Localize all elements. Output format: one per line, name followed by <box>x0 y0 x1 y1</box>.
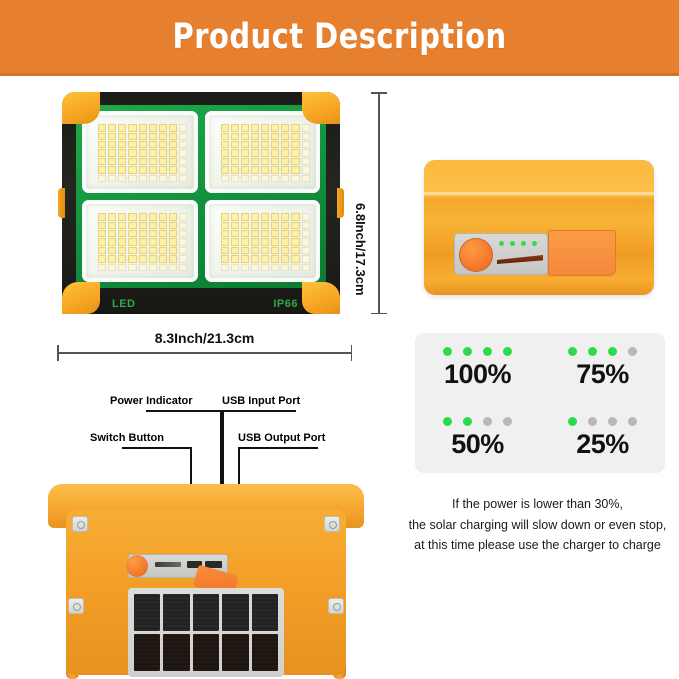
control-plate <box>454 233 548 275</box>
led-chip <box>231 238 239 245</box>
led-chip <box>281 166 289 173</box>
led-chip <box>169 247 177 254</box>
led-chip <box>128 264 136 271</box>
led-chip <box>231 247 239 254</box>
led-chip <box>169 166 177 173</box>
led-chip <box>118 238 126 245</box>
led-chip <box>128 238 136 245</box>
led-chip <box>169 230 177 237</box>
led-chip <box>108 238 116 245</box>
led-chip <box>118 166 126 173</box>
page-header-banner: Product Description <box>0 0 679 76</box>
led-chip <box>221 175 229 182</box>
led-chip <box>139 247 147 254</box>
led-chip <box>179 133 187 140</box>
led-chip <box>221 238 229 245</box>
height-dimension-line <box>378 92 380 314</box>
led-chip <box>139 230 147 237</box>
led-chip <box>291 230 299 237</box>
led-chip <box>302 213 310 220</box>
led-chip <box>261 175 269 182</box>
led-chip <box>231 141 239 148</box>
led-chip <box>261 238 269 245</box>
led-chip <box>179 255 187 262</box>
solar-cell <box>193 594 219 631</box>
solar-cell <box>163 594 189 631</box>
battery-level-item: 100% <box>415 333 540 403</box>
led-chip <box>179 149 187 156</box>
led-chip <box>128 133 136 140</box>
battery-level-item: 50% <box>415 403 540 473</box>
battery-level-item: 25% <box>540 403 665 473</box>
led-chip <box>108 124 116 131</box>
led-chip <box>281 222 289 229</box>
led-chip <box>251 124 259 131</box>
led-chip <box>241 166 249 173</box>
floodlight-side-mount-left <box>58 188 65 218</box>
led-chip <box>108 133 116 140</box>
led-chip <box>128 141 136 148</box>
led-chip <box>281 247 289 254</box>
led-chip <box>251 141 259 148</box>
led-chip <box>128 149 136 156</box>
led-chip <box>159 230 167 237</box>
battery-dot-off <box>483 417 492 426</box>
width-dimension-label: 8.3Inch/21.3cm <box>57 330 352 346</box>
callout-usb-input-port: USB Input Port <box>222 395 300 407</box>
dimension-cap-bottom <box>371 313 387 315</box>
led-chip <box>251 175 259 182</box>
solar-cell <box>134 634 160 671</box>
led-chip <box>221 149 229 156</box>
led-chip <box>241 247 249 254</box>
led-chip <box>291 149 299 156</box>
led-chip <box>108 149 116 156</box>
led-chip <box>271 222 279 229</box>
callout-underline-switch-button <box>122 447 192 449</box>
led-chip <box>271 133 279 140</box>
battery-dot <box>483 347 492 356</box>
led-chip <box>281 238 289 245</box>
led-chip <box>271 247 279 254</box>
page-title: Product Description <box>172 17 506 57</box>
led-panel <box>205 111 321 193</box>
solar-cell <box>222 634 248 671</box>
led-chip <box>128 247 136 254</box>
solar-cell <box>163 634 189 671</box>
corner-bumper-top-right <box>302 92 340 124</box>
ip-rating-label: IP66 <box>273 298 298 310</box>
led-chip <box>291 238 299 245</box>
led-chip <box>179 230 187 237</box>
led-chip <box>291 247 299 254</box>
led-chip <box>179 124 187 131</box>
led-chip <box>302 238 310 245</box>
led-chip <box>291 158 299 165</box>
led-chip <box>241 264 249 271</box>
led-chip <box>159 264 167 271</box>
led-chip <box>221 166 229 173</box>
led-chip <box>261 264 269 271</box>
dimension-cap-right <box>351 345 353 361</box>
indicator-led <box>499 241 504 246</box>
led-chip <box>118 255 126 262</box>
led-chip <box>149 149 157 156</box>
led-chip <box>291 255 299 262</box>
led-panel <box>205 200 321 282</box>
led-chip <box>179 166 187 173</box>
led-chip <box>169 158 177 165</box>
solar-cell <box>252 594 278 631</box>
battery-dots-75 <box>568 347 637 356</box>
led-chip <box>281 149 289 156</box>
led-chip <box>231 166 239 173</box>
solar-cell <box>193 634 219 671</box>
led-chip <box>251 133 259 140</box>
led-chip <box>98 230 106 237</box>
led-chip <box>251 255 259 262</box>
led-chip <box>118 149 126 156</box>
battery-dot <box>463 347 472 356</box>
led-chip <box>271 158 279 165</box>
led-chip <box>302 175 310 182</box>
led-chip <box>98 166 106 173</box>
led-chip <box>98 175 106 182</box>
led-chip <box>221 255 229 262</box>
led-chip <box>302 133 310 140</box>
led-chip <box>251 158 259 165</box>
led-chip <box>149 247 157 254</box>
led-chip <box>139 222 147 229</box>
led-chip <box>231 230 239 237</box>
battery-dot <box>443 347 452 356</box>
led-chip <box>231 158 239 165</box>
led-chip <box>139 166 147 173</box>
led-chip <box>149 124 157 131</box>
led-chip <box>139 238 147 245</box>
solar-cell <box>252 634 278 671</box>
housing-seam <box>424 192 654 195</box>
led-chip <box>251 247 259 254</box>
led-chip <box>221 230 229 237</box>
led-chip <box>118 158 126 165</box>
led-chip <box>118 213 126 220</box>
led-chip <box>221 213 229 220</box>
led-chip <box>169 255 177 262</box>
led-chip <box>108 230 116 237</box>
led-chip <box>108 166 116 173</box>
battery-dot <box>588 347 597 356</box>
led-chip <box>128 158 136 165</box>
height-dimension-label: 6.8Inch/17.3cm <box>353 203 368 296</box>
led-chip <box>271 255 279 262</box>
notice-line-2: the solar charging will slow down or eve… <box>400 515 675 536</box>
callout-usb-output-port: USB Output Port <box>238 432 325 444</box>
led-chip <box>159 141 167 148</box>
led-chip <box>169 133 177 140</box>
led-chip <box>291 222 299 229</box>
led-chip <box>169 124 177 131</box>
led-chip <box>291 166 299 173</box>
battery-dot-off <box>608 417 617 426</box>
callout-power-indicator: Power Indicator <box>110 395 193 407</box>
product-back-view-image <box>22 480 390 679</box>
solar-cell <box>134 594 160 631</box>
led-chip-grid <box>98 213 187 271</box>
led-chip <box>128 213 136 220</box>
solar-cell <box>222 594 248 631</box>
led-chip <box>221 158 229 165</box>
led-chip <box>281 264 289 271</box>
led-chip <box>291 124 299 131</box>
led-chip <box>302 222 310 229</box>
led-chip <box>271 175 279 182</box>
width-dimension-line <box>57 352 352 354</box>
led-chip <box>179 175 187 182</box>
dimension-cap-left <box>57 345 59 361</box>
led-chip <box>128 124 136 131</box>
led-chip <box>139 255 147 262</box>
led-chip <box>159 158 167 165</box>
led-chip <box>159 238 167 245</box>
led-chip <box>139 264 147 271</box>
screw-icon <box>68 598 84 614</box>
led-chip <box>302 255 310 262</box>
battery-dot-off <box>628 347 637 356</box>
indicator-led-row <box>499 241 537 246</box>
solar-panel <box>128 588 284 677</box>
led-chip <box>149 238 157 245</box>
led-chip <box>241 158 249 165</box>
led-chip <box>261 222 269 229</box>
led-chip <box>98 255 106 262</box>
led-chip <box>281 133 289 140</box>
led-chip <box>221 124 229 131</box>
floodlight-green-frame <box>76 105 326 288</box>
indicator-led <box>532 241 537 246</box>
led-chip <box>108 255 116 262</box>
led-chip-grid <box>98 124 187 182</box>
led-chip <box>98 238 106 245</box>
led-chip <box>149 141 157 148</box>
led-chip <box>139 158 147 165</box>
led-chip <box>179 213 187 220</box>
battery-dots-25 <box>568 417 637 426</box>
led-chip <box>98 133 106 140</box>
screw-icon <box>328 598 344 614</box>
led-chip <box>179 222 187 229</box>
battery-level-panel: 100% 75% 50% <box>415 333 665 473</box>
led-chip <box>169 222 177 229</box>
led-chip <box>281 141 289 148</box>
screw-icon <box>324 516 340 532</box>
led-chip <box>118 133 126 140</box>
led-chip <box>261 124 269 131</box>
battery-dot <box>463 417 472 426</box>
callout-underline-usb-output-port <box>238 447 318 449</box>
led-chip <box>251 238 259 245</box>
led-chip <box>221 247 229 254</box>
battery-percent-label: 50% <box>451 429 504 460</box>
led-chip <box>261 141 269 148</box>
led-chip <box>231 133 239 140</box>
led-chip <box>281 175 289 182</box>
battery-dot <box>568 417 577 426</box>
battery-dots-100 <box>443 347 512 356</box>
led-chip <box>169 238 177 245</box>
led-chip-grid <box>221 124 310 182</box>
corner-bumper-bottom-left <box>62 282 100 314</box>
led-chip <box>251 149 259 156</box>
led-chip <box>281 255 289 262</box>
led-chip-grid <box>221 213 310 271</box>
led-chip <box>98 247 106 254</box>
led-chip <box>231 149 239 156</box>
led-chip <box>118 141 126 148</box>
led-chip <box>241 213 249 220</box>
led-chip <box>108 141 116 148</box>
led-chip <box>149 133 157 140</box>
port-rubber-cover <box>548 230 616 276</box>
floodlight-side-mount-right <box>337 188 344 218</box>
led-chip <box>221 264 229 271</box>
back-panel-closeup-image <box>424 160 654 295</box>
led-chip <box>291 213 299 220</box>
led-chip <box>281 230 289 237</box>
battery-percent-label: 100% <box>444 359 511 390</box>
led-chip <box>118 124 126 131</box>
led-chip <box>221 133 229 140</box>
led-chip <box>169 175 177 182</box>
led-chip <box>128 222 136 229</box>
led-chip <box>179 158 187 165</box>
led-chip <box>179 141 187 148</box>
battery-dot-off <box>503 417 512 426</box>
led-chip <box>149 166 157 173</box>
led-chip <box>159 175 167 182</box>
notice-line-3: at this time please use the charger to c… <box>400 535 675 556</box>
led-chip <box>139 213 147 220</box>
battery-percent-label: 75% <box>576 359 629 390</box>
led-chip <box>149 175 157 182</box>
led-chip <box>159 213 167 220</box>
corner-bumper-bottom-right <box>302 282 340 314</box>
usb-input-port-icon <box>155 562 181 567</box>
led-chip <box>291 141 299 148</box>
led-chip <box>302 141 310 148</box>
led-chip <box>149 213 157 220</box>
led-chip <box>251 264 259 271</box>
led-chip <box>149 264 157 271</box>
led-chip <box>261 230 269 237</box>
led-chip <box>271 238 279 245</box>
led-chip <box>261 158 269 165</box>
led-chip <box>108 222 116 229</box>
led-chip <box>271 264 279 271</box>
led-chip <box>159 166 167 173</box>
led-chip <box>231 222 239 229</box>
led-chip <box>159 124 167 131</box>
led-chip <box>302 247 310 254</box>
dimension-cap-top <box>371 92 387 94</box>
led-chip <box>221 222 229 229</box>
battery-dot-off <box>628 417 637 426</box>
led-chip <box>118 222 126 229</box>
callout-switch-button: Switch Button <box>90 432 164 444</box>
led-chip <box>159 222 167 229</box>
battery-percent-label: 25% <box>576 429 629 460</box>
led-chip <box>241 124 249 131</box>
led-chip <box>118 264 126 271</box>
led-chip <box>261 247 269 254</box>
battery-level-item: 75% <box>540 333 665 403</box>
led-chip <box>302 166 310 173</box>
led-chip <box>108 175 116 182</box>
corner-bumper-top-left <box>62 92 100 124</box>
led-chip <box>108 213 116 220</box>
notice-line-1: If the power is lower than 30%, <box>400 494 675 515</box>
led-chip <box>98 222 106 229</box>
led-chip <box>159 133 167 140</box>
led-chip <box>251 222 259 229</box>
led-chip <box>98 158 106 165</box>
led-chip <box>149 158 157 165</box>
led-chip <box>241 238 249 245</box>
led-chip <box>118 175 126 182</box>
product-front-image: LED IP66 <box>62 92 340 314</box>
led-chip <box>302 124 310 131</box>
led-chip <box>98 149 106 156</box>
led-chip <box>231 175 239 182</box>
led-chip <box>271 149 279 156</box>
led-chip <box>271 166 279 173</box>
led-chip <box>251 213 259 220</box>
led-chip <box>221 141 229 148</box>
led-chip <box>271 141 279 148</box>
led-chip <box>231 213 239 220</box>
led-chip <box>241 141 249 148</box>
indicator-led <box>510 241 515 246</box>
led-chip <box>271 124 279 131</box>
led-chip <box>261 213 269 220</box>
led-panel <box>82 111 198 193</box>
led-chip <box>98 124 106 131</box>
led-chip <box>271 213 279 220</box>
led-chip <box>179 264 187 271</box>
led-panel-grid <box>82 111 320 282</box>
screw-icon <box>72 516 88 532</box>
led-chip <box>271 230 279 237</box>
led-chip <box>291 264 299 271</box>
led-chip <box>128 230 136 237</box>
led-chip <box>149 222 157 229</box>
led-chip <box>261 133 269 140</box>
indicator-led <box>521 241 526 246</box>
led-chip <box>169 149 177 156</box>
led-chip <box>251 166 259 173</box>
battery-dot <box>503 347 512 356</box>
led-chip <box>241 175 249 182</box>
led-chip <box>128 255 136 262</box>
led-chip <box>291 175 299 182</box>
led-chip <box>261 166 269 173</box>
led-chip <box>241 230 249 237</box>
led-chip <box>98 141 106 148</box>
led-chip <box>261 255 269 262</box>
led-chip <box>149 255 157 262</box>
led-chip <box>139 124 147 131</box>
led-chip <box>159 149 167 156</box>
